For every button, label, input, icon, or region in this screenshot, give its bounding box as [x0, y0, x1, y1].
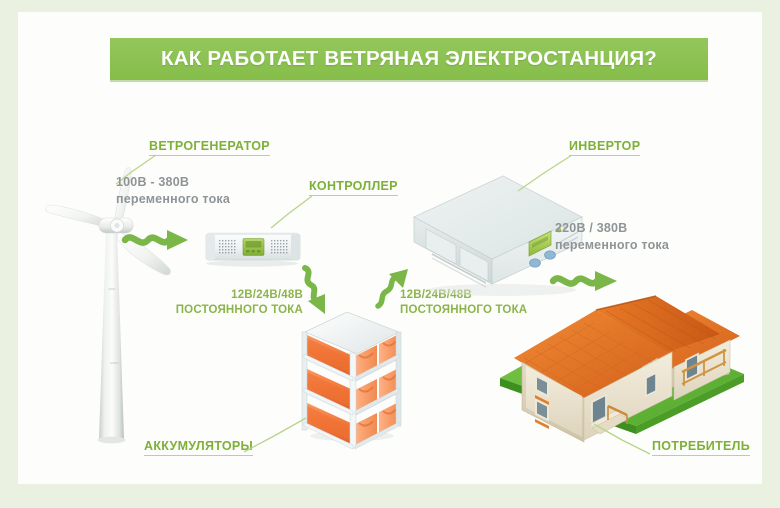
label-controller: КОНТРОЛЛЕР — [309, 179, 398, 196]
charge-controller — [200, 221, 304, 267]
infographic-canvas: КАК РАБОТАЕТ ВЕТРЯНАЯ ЭЛЕКТРОСТАНЦИЯ? — [18, 12, 762, 484]
spec-inverter-output-line1: 220В / 380В — [555, 220, 669, 237]
title-banner: КАК РАБОТАЕТ ВЕТРЯНАЯ ЭЛЕКТРОСТАНЦИЯ? — [110, 38, 708, 80]
inverter-button-right — [545, 251, 556, 259]
battery-rack-graphic — [295, 308, 409, 444]
spec-turbine-output-line1: 100В - 380В — [116, 174, 230, 191]
inverter-button-left — [530, 259, 541, 267]
charge-controller-graphic — [200, 221, 304, 267]
wavy-arrow-right-icon — [122, 225, 198, 257]
window-right-lower — [646, 373, 656, 396]
page-title: КАК РАБОТАЕТ ВЕТРЯНАЯ ЭЛЕКТРОСТАНЦИЯ? — [161, 47, 657, 71]
spec-turbine-output-line2: переменного тока — [116, 191, 230, 208]
arrow-turbine-to-controller — [122, 225, 198, 257]
spec-inverter-output-line2: переменного тока — [555, 237, 669, 254]
label-batteries: АККУМУЛЯТОРЫ — [144, 439, 253, 456]
spec-dc-left: 12В/24В/48В ПОСТОЯННОГО ТОКА — [153, 288, 303, 318]
spec-inverter-output: 220В / 380В переменного тока — [555, 220, 669, 254]
label-inverter: ИНВЕРТОР — [569, 139, 640, 156]
infographic-page: КАК РАБОТАЕТ ВЕТРЯНАЯ ЭЛЕКТРОСТАНЦИЯ? — [0, 0, 780, 508]
spec-dc-left-line2: ПОСТОЯННОГО ТОКА — [153, 303, 303, 318]
spec-turbine-output: 100В - 380В переменного тока — [116, 174, 230, 208]
house-graphic — [496, 274, 748, 429]
residential-house — [496, 274, 748, 429]
battery-rack — [295, 308, 409, 444]
spec-dc-left-line1: 12В/24В/48В — [153, 288, 303, 303]
label-wind-turbine: ВЕТРОГЕНЕРАТОР — [149, 139, 270, 156]
label-consumer: ПОТРЕБИТЕЛЬ — [652, 439, 750, 456]
